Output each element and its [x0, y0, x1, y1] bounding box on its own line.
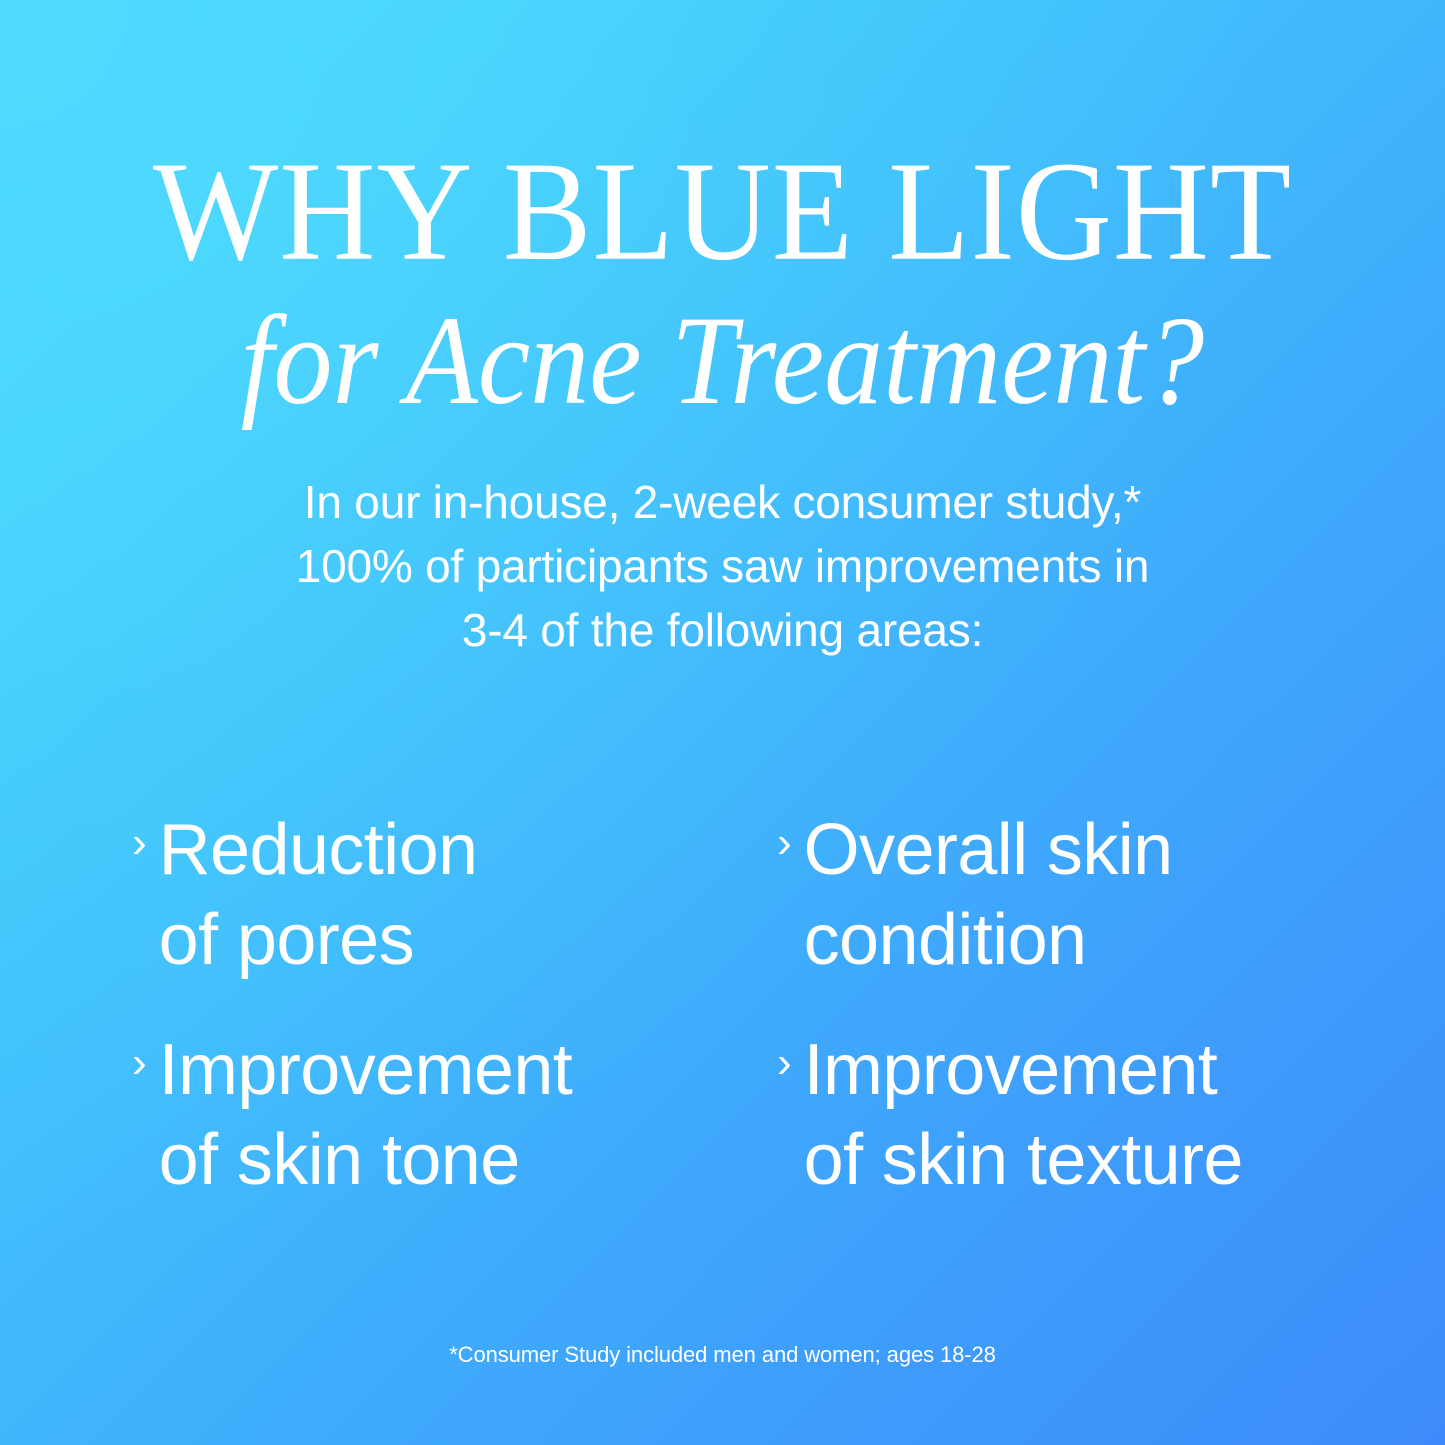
promo-poster: WHY BLUE LIGHT for Acne Treatment? In ou…	[0, 0, 1445, 1445]
benefit-label: Improvement of skin tone	[159, 1025, 573, 1205]
benefit-label: Improvement of skin texture	[804, 1025, 1243, 1205]
headline: WHY BLUE LIGHT for Acne Treatment?	[0, 140, 1445, 415]
headline-line-1: WHY BLUE LIGHT	[0, 140, 1445, 282]
study-summary: In our in-house, 2-week consumer study,*…	[163, 470, 1283, 662]
chevron-right-icon: ›	[132, 1025, 147, 1101]
study-summary-line-2: 100% of participants saw improvements in	[163, 534, 1283, 598]
benefit-item-reduction-of-pores: › Reduction of pores	[132, 805, 777, 1025]
benefit-item-improvement-of-skin-tone: › Improvement of skin tone	[132, 1025, 777, 1245]
study-summary-line-1: In our in-house, 2-week consumer study,*	[163, 470, 1283, 534]
study-summary-line-3: 3-4 of the following areas:	[163, 598, 1283, 662]
benefit-item-improvement-of-skin-texture: › Improvement of skin texture	[777, 1025, 1332, 1245]
benefits-grid: › Reduction of pores › Overall skin cond…	[132, 805, 1332, 1245]
headline-line-2: for Acne Treatment?	[0, 297, 1445, 424]
study-disclaimer: *Consumer Study included men and women; …	[0, 1340, 1445, 1370]
chevron-right-icon: ›	[777, 1025, 792, 1101]
benefit-label: Overall skin condition	[804, 805, 1173, 985]
chevron-right-icon: ›	[777, 805, 792, 881]
benefit-label: Reduction of pores	[159, 805, 478, 985]
benefit-item-overall-skin-condition: › Overall skin condition	[777, 805, 1332, 1025]
chevron-right-icon: ›	[132, 805, 147, 881]
